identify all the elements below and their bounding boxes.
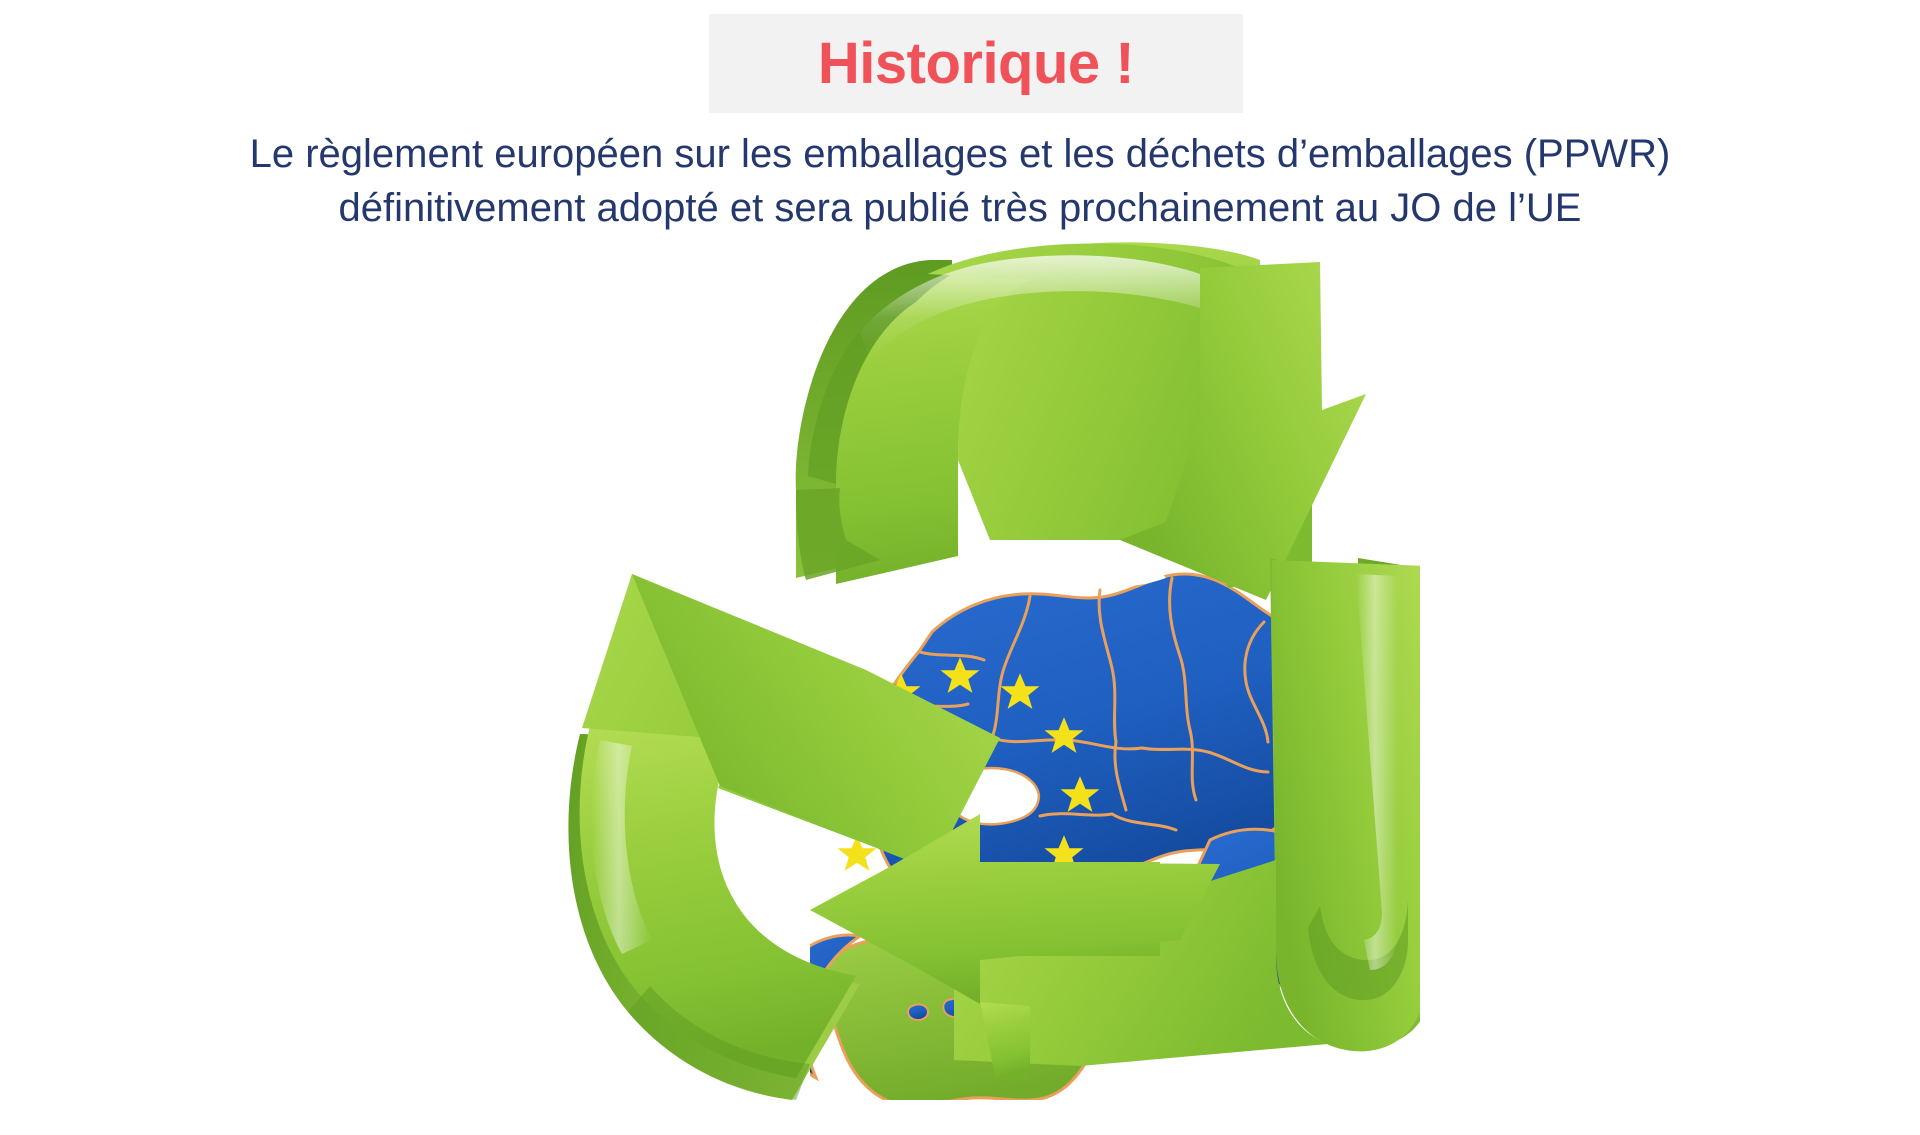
eu-recycling-symbol-image — [560, 240, 1420, 1100]
subtitle-line-1: Le règlement européen sur les emballages… — [0, 128, 1920, 182]
subtitle-line-2: définitivement adopté et sera publié trè… — [0, 182, 1920, 236]
subtitle-block: Le règlement européen sur les emballages… — [0, 128, 1920, 235]
map-balearics-1 — [908, 1004, 928, 1020]
slide-canvas: Historique ! Le règlement européen sur l… — [0, 0, 1920, 1135]
map-britain — [744, 514, 785, 552]
page-title: Historique ! — [818, 35, 1134, 93]
arrow-top — [796, 242, 1366, 600]
title-banner: Historique ! — [709, 14, 1243, 113]
